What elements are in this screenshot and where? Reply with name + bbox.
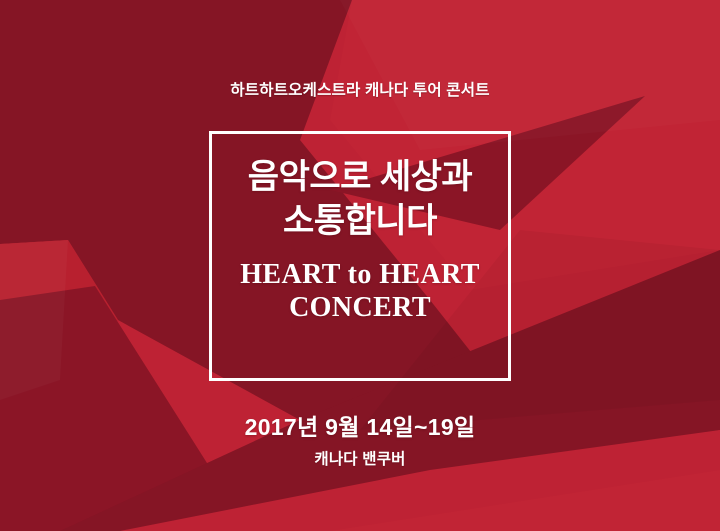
headline: 음악으로 세상과 소통합니다 bbox=[248, 156, 472, 243]
subtitle: HEART to HEART CONCERT bbox=[240, 259, 480, 324]
headline-frame: 음악으로 세상과 소통합니다 HEART to HEART CONCERT bbox=[209, 131, 511, 381]
tour-eyebrow-text: 하트하트오케스트라 캐나다 투어 콘서트 bbox=[0, 82, 720, 101]
headline-line-1: 음악으로 세상과 bbox=[248, 156, 472, 200]
subtitle-line-2: CONCERT bbox=[240, 292, 480, 324]
headline-line-2: 소통합니다 bbox=[248, 200, 472, 244]
headline-frame-inner: 음악으로 세상과 소통합니다 HEART to HEART CONCERT bbox=[212, 134, 508, 378]
poster-content: 하트하트오케스트라 캐나다 투어 콘서트 음악으로 세상과 소통합니다 HEAR… bbox=[0, 0, 720, 531]
event-date: 2017년 9월 14일~19일 bbox=[0, 408, 720, 442]
concert-poster: 하트하트오케스트라 캐나다 투어 콘서트 음악으로 세상과 소통합니다 HEAR… bbox=[0, 0, 720, 531]
subtitle-line-1: HEART to HEART bbox=[240, 259, 480, 291]
event-location: 캐나다 밴쿠버 bbox=[0, 447, 720, 469]
